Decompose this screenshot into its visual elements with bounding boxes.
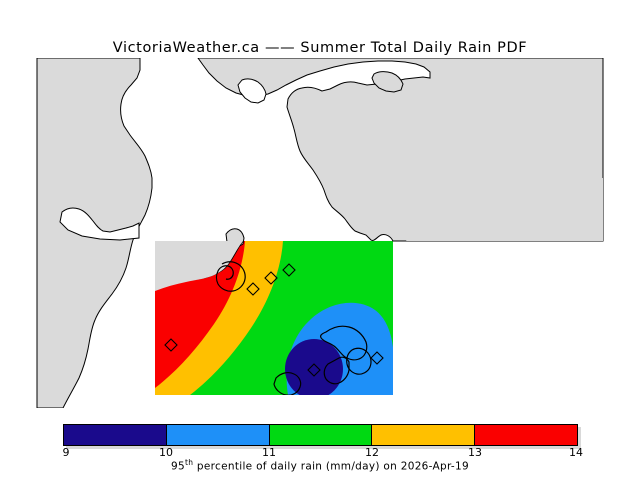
colorbar-caption: 95th percentile of daily rain (mm/day) o… bbox=[0, 458, 640, 473]
colorbar-segment-10-11[interactable] bbox=[167, 425, 270, 445]
caption-prefix: 95 bbox=[171, 461, 185, 473]
page-title: VictoriaWeather.ca —— Summer Total Daily… bbox=[0, 40, 640, 56]
colorbar bbox=[63, 424, 578, 446]
weather-map-page: VictoriaWeather.ca —— Summer Total Daily… bbox=[0, 0, 640, 480]
colorbar-segment-12-13[interactable] bbox=[372, 425, 475, 445]
colorbar-segment-13-14[interactable] bbox=[475, 425, 577, 445]
colorbar-segment-9-10[interactable] bbox=[64, 425, 167, 445]
colorbar-segments[interactable] bbox=[63, 424, 578, 446]
rain-contour-map bbox=[0, 58, 640, 408]
colorbar-segment-11-12[interactable] bbox=[270, 425, 373, 445]
band-navy-core bbox=[285, 339, 343, 399]
caption-rest: percentile of daily rain (mm/day) on 202… bbox=[193, 461, 469, 473]
